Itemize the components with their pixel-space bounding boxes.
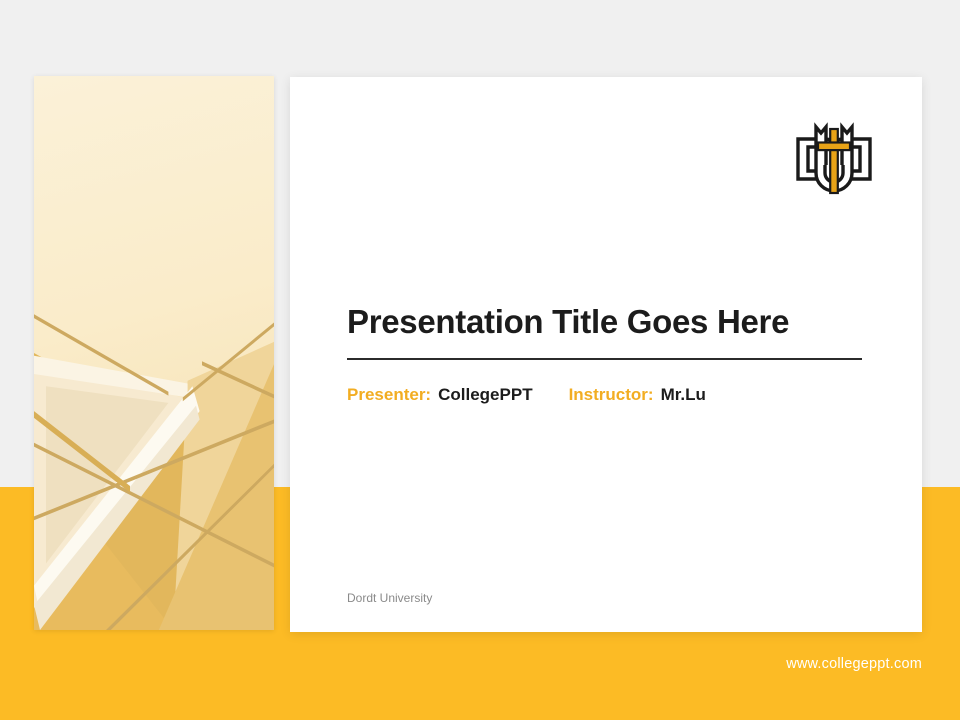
organization-name: Dordt University (347, 591, 432, 605)
page-title: Presentation Title Goes Here (347, 304, 862, 340)
cover-photo-panel (34, 76, 274, 630)
presentation-meta-row: Presenter: CollegePPT Instructor: Mr.Lu (347, 385, 706, 405)
presenter-value: CollegePPT (438, 385, 532, 405)
university-logo-icon (786, 113, 882, 197)
presenter-label: Presenter: (347, 385, 431, 405)
instructor-group: Instructor: Mr.Lu (569, 385, 706, 405)
title-block: Presentation Title Goes Here (347, 304, 862, 360)
slide-preview-canvas: www.collegeppt.com (0, 0, 960, 720)
site-url-text: www.collegeppt.com (786, 656, 922, 672)
instructor-label: Instructor: (569, 385, 654, 405)
slide-card: Presentation Title Goes Here Presenter: … (290, 77, 922, 632)
title-divider (347, 358, 862, 360)
instructor-value: Mr.Lu (661, 385, 706, 405)
presenter-group: Presenter: CollegePPT (347, 385, 533, 405)
